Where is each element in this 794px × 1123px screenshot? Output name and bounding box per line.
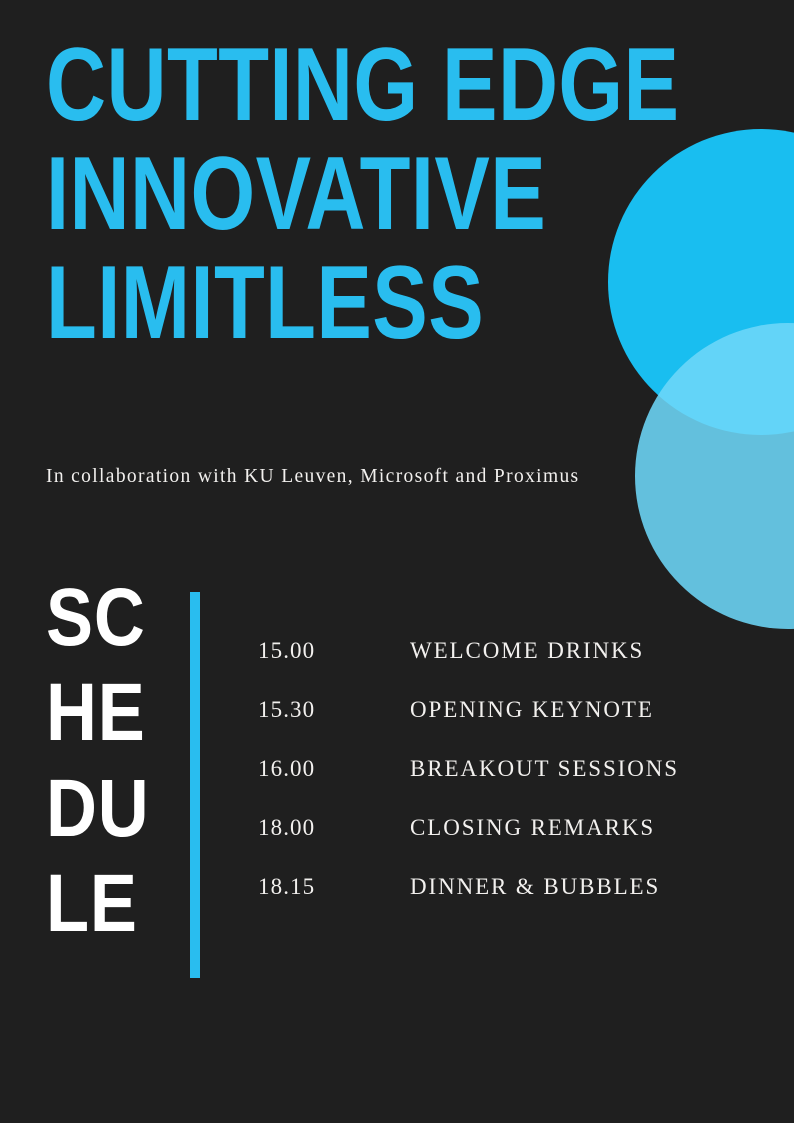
event-poster: CUTTING EDGE INNOVATIVE LIMITLESS In col… — [0, 0, 794, 1123]
schedule-time: 15.00 — [258, 638, 410, 664]
schedule-event: WELCOME DRINKS — [410, 638, 644, 664]
poster-content: CUTTING EDGE INNOVATIVE LIMITLESS In col… — [0, 0, 794, 1123]
schedule-list: 15.00 WELCOME DRINKS 15.30 OPENING KEYNO… — [258, 638, 728, 933]
schedule-heading-row: SC — [46, 578, 149, 658]
collaboration-text: In collaboration with KU Leuven, Microso… — [46, 462, 586, 493]
schedule-time: 18.15 — [258, 874, 410, 900]
schedule-event: CLOSING REMARKS — [410, 815, 655, 841]
schedule-divider-bar — [190, 592, 200, 978]
headline-block: CUTTING EDGE INNOVATIVE LIMITLESS — [46, 34, 686, 361]
schedule-time: 16.00 — [258, 756, 410, 782]
schedule-event: OPENING KEYNOTE — [410, 697, 654, 723]
schedule-heading-row: HE — [46, 673, 149, 753]
schedule-event: BREAKOUT SESSIONS — [410, 756, 679, 782]
headline-line-1: CUTTING EDGE — [46, 34, 558, 137]
schedule-time: 18.00 — [258, 815, 410, 841]
schedule-row: 18.00 CLOSING REMARKS — [258, 815, 728, 874]
schedule-row: 16.00 BREAKOUT SESSIONS — [258, 756, 728, 815]
schedule-event: DINNER & BUBBLES — [410, 874, 660, 900]
headline-line-3: LIMITLESS — [46, 252, 558, 355]
schedule-time: 15.30 — [258, 697, 410, 723]
schedule-row: 15.30 OPENING KEYNOTE — [258, 697, 728, 756]
schedule-row: 15.00 WELCOME DRINKS — [258, 638, 728, 697]
schedule-heading-row: DU — [46, 769, 149, 849]
schedule-heading: SC HE DU LE — [46, 578, 166, 959]
schedule-row: 18.15 DINNER & BUBBLES — [258, 874, 728, 933]
headline-line-2: INNOVATIVE — [46, 143, 558, 246]
schedule-heading-row: LE — [46, 864, 149, 944]
